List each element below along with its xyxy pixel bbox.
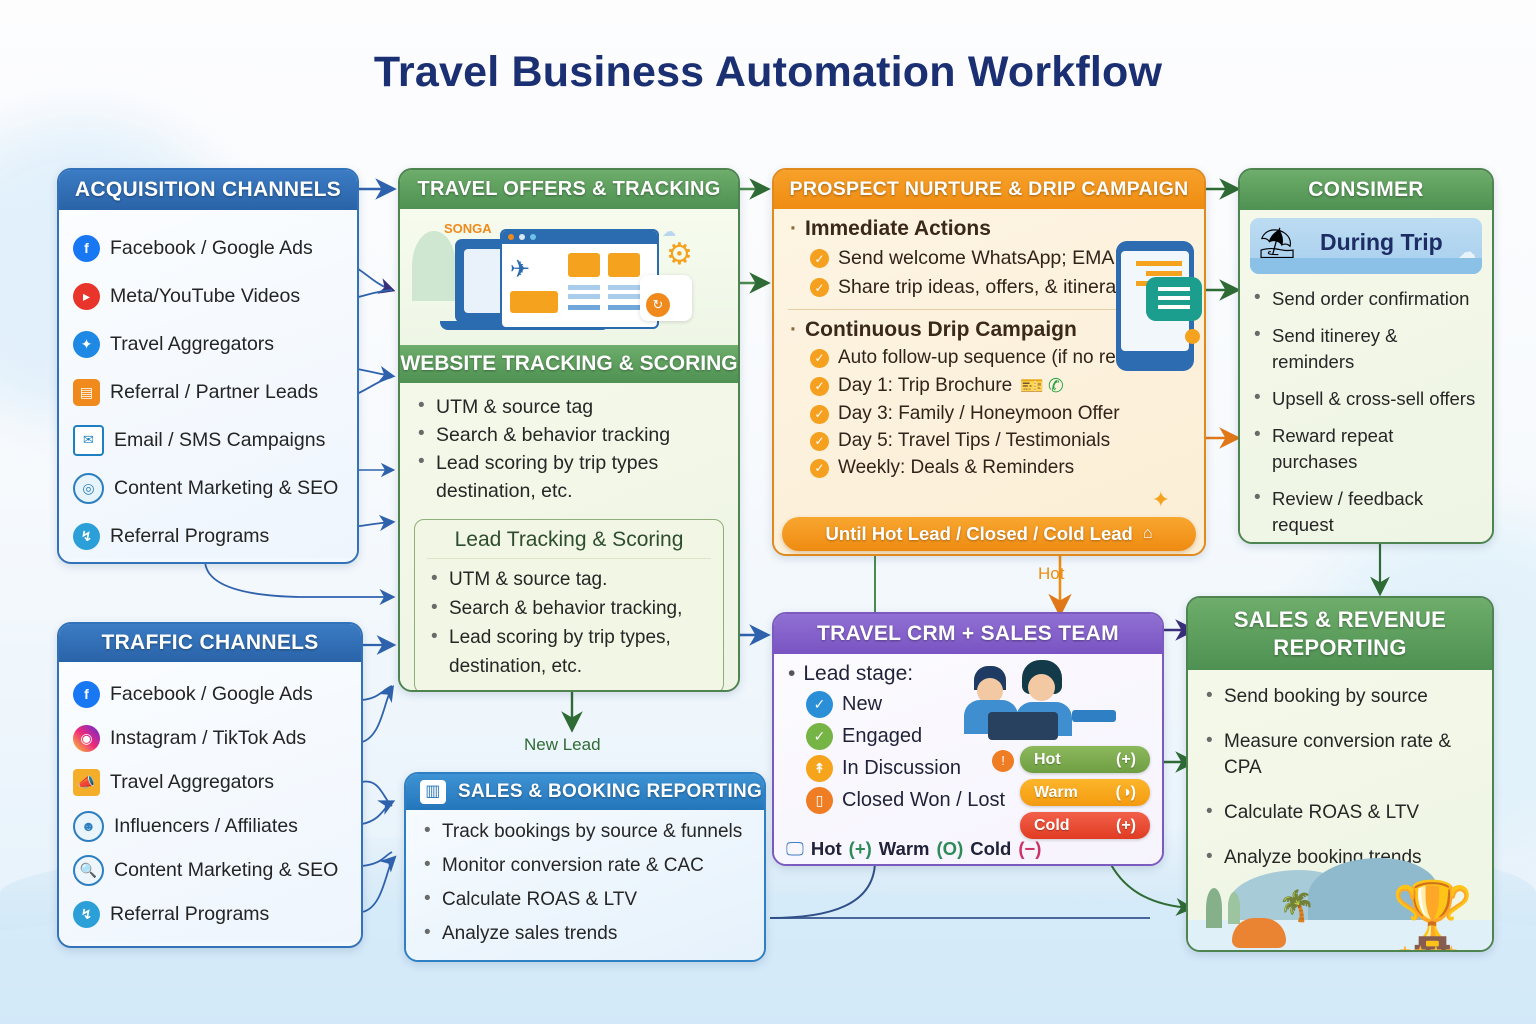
legend-label: Warm <box>879 838 930 860</box>
monitor-icon: 🖵 <box>786 838 804 860</box>
travel-offers-illustration: SONGA ✈ ↻ <box>400 209 738 345</box>
check-circle-blue-icon: ✓ <box>806 691 833 718</box>
email-icon: ✉ <box>73 425 104 456</box>
lead-temperature-legend: 🖵 Hot (+) Warm (O) Cold (−) <box>786 838 1041 860</box>
stage-label: Engaged <box>842 725 922 748</box>
list-item[interactable]: ☻ Influencers / Affiliates <box>73 804 351 848</box>
list-item-label: Meta/YouTube Videos <box>110 285 300 308</box>
during-trip-label: During Trip <box>1320 229 1443 256</box>
lead-tracking-bullets: UTM & source tag. Search & behavior trac… <box>427 565 711 681</box>
bullet-item: Track bookings by source & funnels <box>420 820 750 844</box>
legend-sign: (−) <box>1018 838 1041 860</box>
list-item[interactable]: ✦ Travel Aggregators <box>73 320 347 368</box>
facebook-icon: f <box>73 681 100 708</box>
list-item-label: Travel Aggregators <box>110 333 274 356</box>
status-badge-cold[interactable]: Cold (+) <box>1020 812 1150 839</box>
prospect-nurture-card[interactable]: PROSPECT NURTURE & DRIP CAMPAIGN · Immed… <box>772 168 1206 556</box>
nurture-status-ribbon: Until Hot Lead / Closed / Cold Lead ⌂ <box>782 517 1196 551</box>
referral-program-icon: ↯ <box>73 523 100 550</box>
legend-sign: (+) <box>849 838 872 860</box>
bullet-item: Monitor conversion rate & CAC <box>420 854 750 878</box>
lead-tracking-scoring-box[interactable]: Lead Tracking & Scoring UTM & source tag… <box>414 519 724 692</box>
acquisition-channels-header: ACQUISITION CHANNELS <box>59 170 357 210</box>
action-label: Day 5: Travel Tips / Testimonials <box>838 430 1110 452</box>
check-icon: ✓ <box>810 377 829 396</box>
check-icon: ✓ <box>810 405 829 424</box>
doc-circle-orange-icon: ▯ <box>806 787 833 814</box>
sales-booking-reporting-card[interactable]: ▥ SALES & BOOKING REPORTING Track bookin… <box>404 772 766 962</box>
whatsapp-icon: ✆ <box>1048 375 1064 398</box>
connector-label-hot: Hot <box>1038 564 1064 584</box>
list-item[interactable]: ◎ Content Marketing & SEO <box>73 464 347 512</box>
website-tracking-bullets: UTM & source tag Search & behavior track… <box>414 393 724 505</box>
list-item-label: Travel Aggregators <box>110 771 274 794</box>
sales-booking-header-bar: ▥ SALES & BOOKING REPORTING <box>406 774 764 810</box>
list-item-label: Facebook / Google Ads <box>110 237 313 260</box>
badge-label: Cold <box>1034 817 1070 835</box>
alert-dot-icon: ! <box>992 750 1014 772</box>
acquisition-channels-card[interactable]: ACQUISITION CHANNELS f Facebook / Google… <box>57 168 359 564</box>
stars-icon: ★★★★ <box>1398 942 1460 952</box>
aggregator-icon: ✦ <box>73 331 100 358</box>
bullet-item: Measure conversion rate & CPA <box>1202 729 1478 781</box>
sales-revenue-reporting-card[interactable]: SALES & REVENUE REPORTING Send booking b… <box>1186 596 1494 952</box>
bullet-item: Send order confirmation <box>1250 286 1482 312</box>
ribbon-label: Until Hot Lead / Closed / Cold Lead <box>826 523 1133 545</box>
list-item-label: Instagram / TikTok Ads <box>110 727 306 750</box>
page-title: Travel Business Automation Workflow <box>0 48 1536 97</box>
camel-icon <box>1232 918 1286 948</box>
traffic-channels-header: TRAFFIC CHANNELS <box>59 624 361 662</box>
referral-icon: ▤ <box>73 379 100 406</box>
palm-tree-icon: 🌴 <box>1278 889 1315 924</box>
travel-offers-tracking-card[interactable]: TRAVEL OFFERS & TRACKING SONGA ✈ <box>398 168 740 692</box>
bullet-item: Upsell & cross-sell offers <box>1250 386 1482 412</box>
sales-team-illustration <box>964 658 1114 742</box>
group-title: Continuous Drip Campaign <box>805 318 1077 342</box>
connector-label-new-lead: New Lead <box>524 735 601 755</box>
travel-crm-header: TRAVEL CRM + SALES TEAM <box>774 614 1162 654</box>
check-icon: ✓ <box>810 459 829 478</box>
status-badge-hot[interactable]: Hot (+) <box>1020 746 1150 773</box>
list-item[interactable]: f Facebook / Google Ads <box>73 224 347 272</box>
list-item-label: Email / SMS Campaigns <box>114 429 325 452</box>
list-item[interactable]: ✉ Email / SMS Campaigns <box>73 416 347 464</box>
prospect-nurture-header: PROSPECT NURTURE & DRIP CAMPAIGN <box>774 170 1204 209</box>
check-icon: ✓ <box>810 249 829 268</box>
bullet-item: UTM & source tag. <box>427 565 711 594</box>
lead-stage-label: Lead stage: <box>803 662 913 686</box>
list-item[interactable]: f Facebook / Google Ads <box>73 672 351 716</box>
stage-label: In Discussion <box>842 757 961 780</box>
bullet-item: Calculate ROAS & LTV <box>1202 800 1478 826</box>
action-label: Share trip ideas, offers, & itineraries <box>838 276 1148 299</box>
instagram-icon: ◉ <box>73 725 100 752</box>
stage-label: New <box>842 693 882 716</box>
during-trip-banner: ⛱ During Trip ☁ <box>1250 218 1482 274</box>
list-item[interactable]: 📣 Travel Aggregators <box>73 760 351 804</box>
acquisition-channel-list: f Facebook / Google Ads ▸ Meta/YouTube V… <box>59 210 357 564</box>
content-seo-icon: ◎ <box>73 473 104 504</box>
badge-sign: (+) <box>1116 817 1136 835</box>
bullet-item: Calculate ROAS & LTV <box>420 888 750 912</box>
landmark-icon: ✦ <box>1152 487 1170 513</box>
list-item[interactable]: ▸ Meta/YouTube Videos <box>73 272 347 320</box>
check-icon: ✓ <box>810 349 829 368</box>
legend-sign: (O) <box>937 838 964 860</box>
list-item-label: Content Marketing & SEO <box>114 477 338 500</box>
travel-offers-header: TRAVEL OFFERS & TRACKING <box>400 170 738 209</box>
bullet-item: Analyze sales trends <box>420 922 750 946</box>
beach-umbrella-icon: ⛱ <box>1258 226 1296 261</box>
list-item-label: Content Marketing & SEO <box>114 859 338 882</box>
check-circle-green-icon: ✓ <box>806 723 833 750</box>
sales-booking-header: SALES & BOOKING REPORTING <box>458 781 762 803</box>
monument-icon: ⌂ <box>1143 525 1153 543</box>
bullet-item: Search & behavior tracking, <box>427 594 711 623</box>
legend-label: Hot <box>811 838 842 860</box>
trophy-icon: 🏆 <box>1392 882 1474 948</box>
cloud-icon: ☁ <box>662 223 676 240</box>
action-label: Weekly: Deals & Reminders <box>838 457 1074 479</box>
gear-icon: ⚙ <box>666 237 693 272</box>
landscape-illustration: 🌴 🏆 ★★★★ <box>1188 854 1492 952</box>
list-item[interactable]: ▤ Referral / Partner Leads <box>73 368 347 416</box>
content-seo-icon: 🔍 <box>73 855 104 886</box>
group-title: Immediate Actions <box>805 217 991 241</box>
diagram-canvas: Travel Business Automation Workflow <box>0 0 1536 1024</box>
person-circle-amber-icon: ↟ <box>806 755 833 782</box>
megaphone-icon: 📣 <box>73 769 100 796</box>
list-item[interactable]: 🔍 Content Marketing & SEO <box>73 848 351 892</box>
check-icon: ✓ <box>810 432 829 451</box>
badge-sign: (+) <box>1116 751 1136 769</box>
list-item-label: Referral Programs <box>110 525 269 548</box>
sales-revenue-bullets: Send booking by source Measure conversio… <box>1202 684 1478 871</box>
bullet-item: Send itinerey & reminders <box>1250 323 1482 375</box>
check-icon: ✓ <box>810 278 829 297</box>
pen-icon <box>1072 710 1116 722</box>
sales-revenue-header: SALES & REVENUE REPORTING <box>1188 598 1492 670</box>
brochure-icon: 🎫 <box>1020 374 1044 398</box>
badge-sign: (◑) <box>1116 784 1136 802</box>
lead-temperature-badges: Hot (+) Warm (◑) Cold (+) <box>1020 746 1150 839</box>
youtube-icon: ▸ <box>73 283 100 310</box>
list-item[interactable]: ↯ Referral Programs <box>73 512 347 560</box>
action-label: Day 1: Trip Brochure <box>838 375 1012 397</box>
bullet-item: UTM & source tag <box>414 393 724 421</box>
badge-label: Hot <box>1034 751 1061 769</box>
travel-crm-card[interactable]: TRAVEL CRM + SALES TEAM • Lead stage: ✓ … <box>772 612 1164 866</box>
bullet-item: Lead scoring by trip types destination, … <box>414 449 724 505</box>
action-label: Send welcome WhatsApp; EMAIL <box>838 247 1131 270</box>
illustration-label: SONGA <box>444 221 492 236</box>
list-item-label: Referral / Partner Leads <box>110 381 318 404</box>
consumer-bullets: Send order confirmation Send itinerey & … <box>1250 286 1482 544</box>
traffic-channel-list: f Facebook / Google Ads ◉ Instagram / Ti… <box>59 662 361 944</box>
list-item[interactable]: ◉ Instagram / TikTok Ads <box>73 716 351 760</box>
list-item-label: Referral Programs <box>110 903 269 926</box>
bullet-item: Lead scoring by trip types, destination,… <box>427 623 711 681</box>
referral-program-icon: ↯ <box>73 901 100 928</box>
bullet-item: Reward repeat purchases <box>1250 423 1482 475</box>
bullet-item: Review / feedback request <box>1250 486 1482 538</box>
status-badge-warm[interactable]: Warm (◑) <box>1020 779 1150 806</box>
list-item[interactable]: ↯ Referral Programs <box>73 892 351 936</box>
bullet-item: Send booking by source <box>1202 684 1478 710</box>
bullet-item: Search & behavior tracking <box>414 421 724 449</box>
list-item-label: Facebook / Google Ads <box>110 683 313 706</box>
consumer-card[interactable]: CONSIMER ⛱ During Trip ☁ Send order conf… <box>1238 168 1494 544</box>
stage-label: Closed Won / Lost <box>842 789 1005 812</box>
facebook-icon: f <box>73 235 100 262</box>
traffic-channels-card[interactable]: TRAFFIC CHANNELS f Facebook / Google Ads… <box>57 622 363 948</box>
legend-label: Cold <box>970 838 1011 860</box>
bar-chart-icon: ▥ <box>420 780 446 804</box>
consumer-header: CONSIMER <box>1240 170 1492 210</box>
website-tracking-subheader: WEBSITE TRACKING & SCORING <box>400 345 738 383</box>
badge-label: Warm <box>1034 784 1078 802</box>
cloud-icon: ☁ <box>1458 242 1476 263</box>
action-label: Day 3: Family / Honeymoon Offer <box>838 403 1120 425</box>
lead-tracking-title: Lead Tracking & Scoring <box>427 528 711 559</box>
sales-booking-bullets: Track bookings by source & funnels Monit… <box>420 820 750 946</box>
list-item-label: Influencers / Affiliates <box>114 815 298 838</box>
influencer-icon: ☻ <box>73 811 104 842</box>
